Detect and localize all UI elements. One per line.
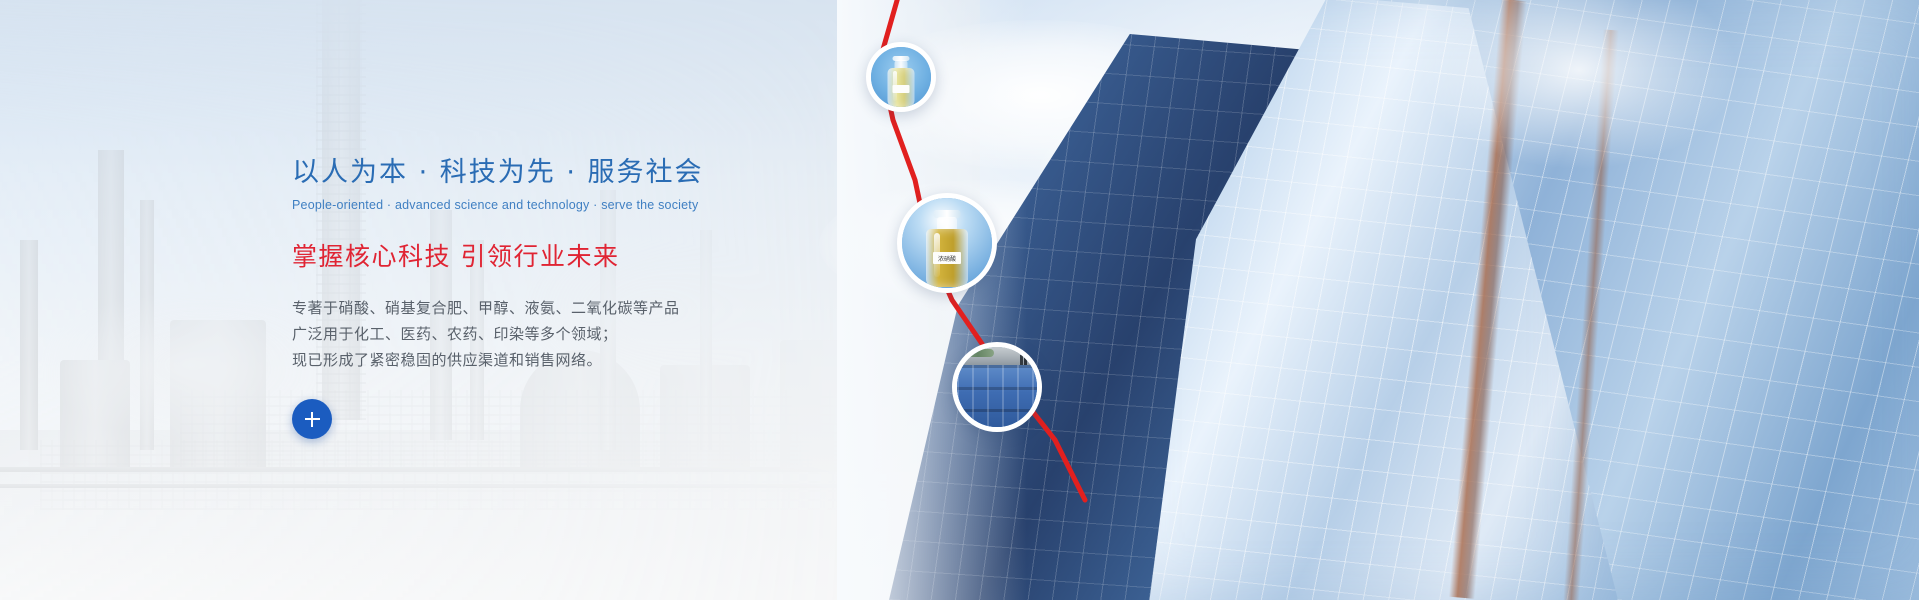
slogan-red: 掌握核心科技 引领行业未来	[292, 237, 852, 273]
hero-banner: 浓硝酸 以人为本 · 科技为先 · 服务社会 People-oriented ·…	[0, 0, 1919, 600]
headline-en: People-oriented · advanced science and t…	[292, 198, 852, 212]
body-line-1: 专著于硝酸、硝基复合肥、甲醇、液氨、二氧化碳等产品	[292, 295, 852, 321]
body-copy: 专著于硝酸、硝基复合肥、甲醇、液氨、二氧化碳等产品 广泛用于化工、医药、农药、印…	[292, 295, 852, 373]
product-circle-1[interactable]	[866, 42, 936, 112]
body-line-2: 广泛用于化工、医药、农药、印染等多个领域；	[292, 321, 852, 347]
skyscraper-background	[839, 0, 1919, 600]
banner-copy: 以人为本 · 科技为先 · 服务社会 People-oriented · adv…	[292, 0, 852, 439]
body-line-3: 现已形成了紧密稳固的供应渠道和销售网络。	[292, 347, 852, 373]
headline-cn: 以人为本 · 科技为先 · 服务社会	[292, 150, 852, 189]
product-2-label: 浓硝酸	[933, 252, 961, 264]
product-1-label	[893, 85, 910, 93]
product-circle-3[interactable]	[952, 342, 1042, 432]
plus-icon-vertical	[311, 412, 313, 427]
learn-more-button[interactable]	[292, 399, 332, 439]
product-circle-2[interactable]: 浓硝酸	[897, 193, 997, 293]
